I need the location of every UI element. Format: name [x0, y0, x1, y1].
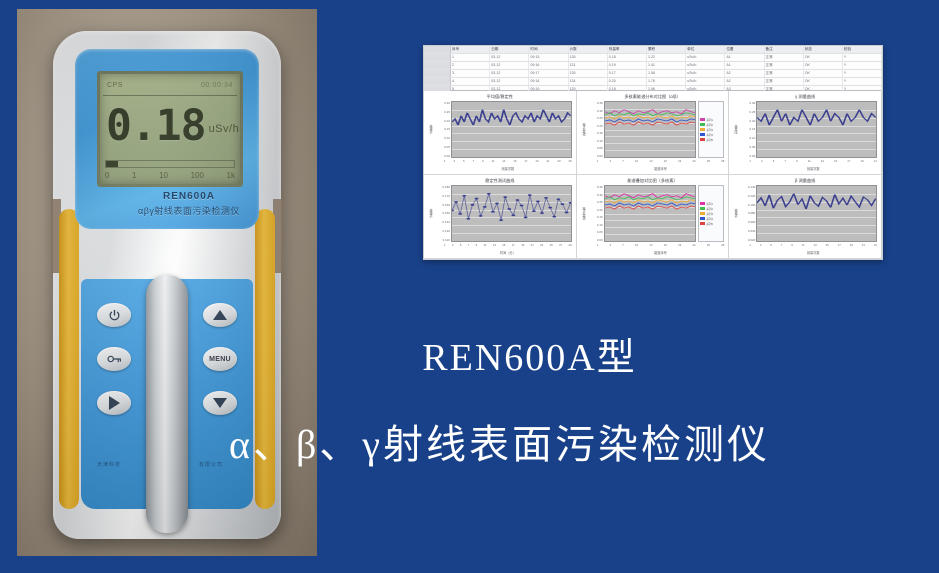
chart-cell: β 测量曲线计数率0.1400.1200.1000.0800.0600.0400…: [729, 175, 882, 259]
lcd-scale-tick: 0: [105, 171, 109, 180]
chart-y-axis: 0.300.250.200.150.100.050.00: [739, 101, 756, 158]
spreadsheet-row: 203-1209:161310.191.41uSv/hA1正常OKY: [424, 62, 882, 70]
x-tick: 1: [597, 243, 599, 250]
chart-series-svg: [757, 102, 876, 157]
x-tick: 15: [502, 243, 505, 250]
y-tick: 0.25: [739, 110, 755, 114]
legend-label: 系列1: [706, 118, 713, 122]
chart-x-axis-label: 测量次数: [749, 166, 877, 171]
chart-title: β 测量曲线: [733, 178, 877, 184]
chart-plot-area: [451, 185, 572, 242]
chart-cell: 稳定性测试曲线计数率0.1800.1700.1600.1500.1400.130…: [424, 175, 577, 259]
x-tick: 9: [476, 243, 478, 250]
power-icon: [108, 309, 121, 322]
x-tick: 7: [622, 159, 624, 166]
legend-item: 系列5: [700, 222, 722, 226]
legend-label: 系列2: [706, 123, 713, 127]
chart-x-axis: 13579111315171921: [749, 158, 877, 166]
x-tick: 10: [635, 243, 638, 250]
lcd-scale-tick: 10: [159, 171, 168, 180]
x-tick: 11: [484, 243, 487, 250]
x-tick: 13: [649, 159, 652, 166]
charts-grid: 平均值/稳定性计数率0.300.250.200.150.100.050.0013…: [424, 91, 882, 259]
spreadsheet-cell: 正常: [765, 54, 804, 61]
lcd-value: 0.18: [106, 105, 206, 148]
spreadsheet-cell: 126: [569, 70, 608, 77]
legend-swatch: [700, 217, 705, 220]
x-tick: 19: [861, 159, 864, 166]
x-tick: 13: [821, 159, 824, 166]
device-model-label: REN600A: [97, 191, 281, 202]
series-line: [605, 122, 696, 125]
y-tick: 0.30: [587, 193, 603, 197]
chart-plot-wrap: 能量计数0.350.300.250.200.150.100.050.00系列1系…: [581, 185, 725, 242]
y-tick: 0.060: [739, 220, 755, 224]
chart-plot-area: [604, 185, 697, 242]
series-line: [605, 200, 696, 203]
spreadsheet-cell: Y: [843, 78, 882, 85]
chart-y-axis: 0.1400.1200.1000.0800.0600.0400.020: [739, 185, 756, 242]
lcd-reading: 0.18 uSv/h: [106, 98, 236, 154]
y-tick: 0.05: [739, 145, 755, 149]
spreadsheet-cell: 正常: [765, 70, 804, 77]
y-tick: 0.15: [434, 127, 450, 131]
row-header-cell: [424, 70, 451, 77]
x-tick: 7: [781, 243, 783, 250]
chart-title: 平均值/稳定性: [428, 94, 572, 100]
spreadsheet-cell: 09:17: [529, 70, 568, 77]
play-icon: [109, 396, 120, 410]
x-tick: 3: [452, 243, 454, 250]
spreadsheet-cell: uSv/h: [686, 54, 725, 61]
x-tick: 9: [482, 159, 484, 166]
x-tick: 13: [649, 243, 652, 250]
product-title-line1: REN600A型: [0, 326, 939, 381]
y-tick: 0.25: [587, 116, 603, 120]
device-chinese-label: αβγ射线表面污染检测仪: [97, 204, 281, 217]
y-tick: 0.20: [434, 119, 450, 123]
spreadsheet-cell: 03-12: [490, 78, 529, 85]
lcd-scale-tick: 100: [191, 171, 204, 180]
chart-x-axis-label: 测量次数: [444, 166, 572, 171]
x-tick: 19: [535, 159, 538, 166]
x-tick: 19: [678, 159, 681, 166]
y-tick: 0.140: [739, 185, 755, 189]
chart-cell: 多核素能谱分布对比图（α/β）能量计数0.350.300.250.200.150…: [577, 91, 730, 175]
spreadsheet-cell: OK: [804, 78, 843, 85]
y-tick: 0.100: [739, 203, 755, 207]
legend-item: 系列2: [700, 207, 722, 211]
spreadsheet-cell: OK: [804, 62, 843, 69]
y-tick: 0.15: [587, 215, 603, 219]
chart-series-svg: [605, 102, 696, 157]
y-tick: 0.140: [434, 220, 450, 224]
chart-series-svg: [605, 186, 696, 241]
legend-item: 系列3: [700, 212, 722, 216]
y-tick: 0.20: [587, 208, 603, 212]
chart-y-axis-label: 能量计数: [581, 185, 587, 242]
x-tick: 23: [540, 243, 543, 250]
y-tick: 0.05: [587, 146, 603, 150]
y-tick: 0.20: [739, 119, 755, 123]
chart-x-axis: 14710131619222528: [597, 158, 725, 166]
chart-cell: 能谱叠加对比图（多核素）能量计数0.350.300.250.200.150.10…: [577, 175, 730, 259]
y-tick: 0.120: [739, 194, 755, 198]
x-tick: 16: [664, 243, 667, 250]
spreadsheet-cell: A2: [725, 78, 764, 85]
x-tick: 9: [796, 159, 798, 166]
spreadsheet-cell: 0.17: [608, 70, 647, 77]
x-tick: 7: [468, 243, 470, 250]
y-tick: 0.35: [587, 101, 603, 105]
spreadsheet-cell: 校验: [843, 46, 882, 53]
lcd-scale-tick: 1: [132, 171, 136, 180]
x-tick: 3: [760, 243, 762, 250]
x-tick: 23: [557, 159, 560, 166]
spreadsheet-cell: 1.78: [647, 78, 686, 85]
lcd-status-indicator: 00:00:34: [201, 82, 233, 89]
spreadsheet-cell: 1.22: [647, 54, 686, 61]
x-tick: 5: [460, 243, 462, 250]
chart-y-axis: 0.300.250.200.150.100.050.00: [434, 101, 451, 158]
spreadsheet-cell: 3: [451, 70, 490, 77]
spreadsheet-cell: uSv/h: [686, 78, 725, 85]
spreadsheet-area: 序号日期时间计数剂量率累积单位位置备注状态校验103-1209:151280.1…: [424, 46, 882, 91]
spreadsheet-cell: 1: [451, 54, 490, 61]
spreadsheet-cell: OK: [804, 70, 843, 77]
spreadsheet-cell: 0.20: [608, 78, 647, 85]
series-line: [757, 194, 876, 209]
chart-plot-area: [756, 101, 877, 158]
legend-label: 系列5: [706, 222, 713, 226]
spreadsheet-cell: 03-12: [490, 54, 529, 61]
row-header-cell: [424, 54, 451, 61]
arrow-down-icon: [213, 398, 227, 408]
x-tick: 4: [609, 159, 611, 166]
chart-title: 多核素能谱分布对比图（α/β）: [581, 94, 725, 100]
spreadsheet-cell: Y: [843, 54, 882, 61]
x-tick: 1: [749, 159, 751, 166]
row-header-cell: [424, 46, 451, 53]
y-tick: 0.130: [434, 229, 450, 233]
arrow-up-icon: [213, 310, 227, 320]
y-tick: 0.15: [739, 127, 755, 131]
legend-item: 系列1: [700, 202, 722, 206]
chart-plot-wrap: 能量计数0.350.300.250.200.150.100.050.00系列1系…: [581, 101, 725, 158]
chart-plot-area: [451, 101, 572, 158]
legend-label: 系列4: [706, 133, 713, 137]
spreadsheet-cell: Y: [843, 70, 882, 77]
y-tick: 0.30: [434, 101, 450, 105]
chart-x-axis: 1357911131517192123: [749, 242, 877, 250]
chart-plot-wrap: 计数率0.1800.1700.1600.1500.1400.1300.120: [428, 185, 572, 242]
x-tick: 13: [493, 243, 496, 250]
x-tick: 21: [862, 243, 865, 250]
x-tick: 16: [664, 159, 667, 166]
legend-item: 系列4: [700, 133, 722, 137]
legend-label: 系列4: [706, 217, 713, 221]
lcd-screen: CPS 00:00:34 0.18 uSv/h 01101001k: [97, 71, 243, 187]
spreadsheet-cell: 单位: [686, 46, 725, 53]
x-tick: 5: [770, 243, 772, 250]
chart-y-axis-label: 计数率: [428, 185, 434, 242]
series-line: [605, 110, 696, 114]
chart-title: 稳定性测试曲线: [428, 178, 572, 184]
x-tick: 15: [826, 243, 829, 250]
x-tick: 29: [569, 243, 572, 250]
x-tick: 25: [569, 159, 572, 166]
x-tick: 21: [531, 243, 534, 250]
chart-series-svg: [452, 102, 571, 157]
chart-y-axis-label: 计数率: [733, 185, 739, 242]
x-tick: 17: [524, 159, 527, 166]
y-tick: 0.150: [434, 211, 450, 215]
x-tick: 22: [692, 159, 695, 166]
spreadsheet-cell: 09:18: [529, 78, 568, 85]
up-button[interactable]: [203, 303, 237, 327]
product-title-line2: α、β、γ射线表面污染检测仪: [0, 412, 939, 470]
x-tick: 21: [874, 159, 877, 166]
spreadsheet-header-row: 序号日期时间计数剂量率累积单位位置备注状态校验: [424, 46, 882, 54]
power-button[interactable]: [97, 303, 131, 327]
series-line: [605, 194, 696, 198]
spreadsheet-cell: 03-12: [490, 70, 529, 77]
chart-x-axis-label: 测量次数: [749, 250, 877, 255]
y-tick: 0.15: [587, 131, 603, 135]
x-tick: 7: [622, 243, 624, 250]
spreadsheet-cell: 09:16: [529, 62, 568, 69]
legend-label: 系列3: [706, 128, 713, 132]
spreadsheet-cell: 备注: [765, 46, 804, 53]
chart-y-axis-label: 能量计数: [581, 101, 587, 158]
x-tick: 3: [761, 159, 763, 166]
chart-plot-area: [604, 101, 697, 158]
y-tick: 0.05: [587, 230, 603, 234]
spreadsheet-cell: 131: [569, 62, 608, 69]
spreadsheet-cell: 累积: [647, 46, 686, 53]
chart-x-axis: 135791113151719212325: [444, 158, 572, 166]
lcd-scale: 01101001k: [105, 168, 235, 182]
spreadsheet-cell: 128: [569, 54, 608, 61]
y-tick: 0.10: [739, 136, 755, 140]
x-tick: 19: [850, 243, 853, 250]
y-tick: 0.10: [587, 139, 603, 143]
chart-legend: 系列1系列2系列3系列4系列5: [698, 185, 724, 242]
series-line: [605, 206, 696, 209]
x-tick: 27: [559, 243, 562, 250]
x-tick: 10: [635, 159, 638, 166]
x-tick: 17: [847, 159, 850, 166]
lcd-scale-tick: 1k: [227, 171, 235, 180]
series-line: [605, 116, 696, 119]
spreadsheet-cell: 2: [451, 62, 490, 69]
y-tick: 0.180: [434, 185, 450, 189]
chart-title: γ 测量曲线: [733, 94, 877, 100]
legend-item: 系列5: [700, 138, 722, 142]
spreadsheet-cell: uSv/h: [686, 62, 725, 69]
spreadsheet-cell: 状态: [804, 46, 843, 53]
lcd-bargraph: [105, 160, 235, 168]
x-tick: 17: [512, 243, 515, 250]
chart-y-axis-label: 剂量率: [733, 101, 739, 158]
lcd-top-bar: CPS 00:00:34: [103, 76, 237, 96]
legend-swatch: [700, 133, 705, 136]
x-tick: 7: [472, 159, 474, 166]
chart-x-axis: 1357911131517192123252729: [444, 242, 572, 250]
x-tick: 19: [678, 243, 681, 250]
x-tick: 1: [749, 243, 751, 250]
x-tick: 9: [791, 243, 793, 250]
x-tick: 17: [838, 243, 841, 250]
y-tick: 0.25: [587, 200, 603, 204]
device-face-upper: CPS 00:00:34 0.18 uSv/h 01101001k REN600…: [75, 49, 259, 229]
lcd-mode-indicator: CPS: [107, 82, 123, 89]
device-hand-strap: [146, 275, 188, 533]
x-tick: 7: [784, 159, 786, 166]
series-line: [452, 110, 571, 125]
series-line: [605, 203, 696, 206]
spreadsheet-cell: A2: [725, 70, 764, 77]
y-tick: 0.30: [739, 101, 755, 105]
chart-series-svg: [757, 186, 876, 241]
x-tick: 5: [773, 159, 775, 166]
y-tick: 0.25: [434, 110, 450, 114]
spreadsheet-cell: 计数: [569, 46, 608, 53]
legend-item: 系列3: [700, 128, 722, 132]
legend-swatch: [700, 222, 705, 225]
legend-swatch: [700, 128, 705, 131]
chart-series-svg: [452, 186, 571, 241]
y-tick: 0.30: [587, 109, 603, 113]
legend-label: 系列5: [706, 138, 713, 142]
chart-x-axis-label: 能道序号: [597, 166, 725, 171]
spreadsheet-cell: 0.18: [608, 54, 647, 61]
chart-y-axis: 0.350.300.250.200.150.100.050.00: [587, 101, 604, 158]
spreadsheet-row: 103-1209:151280.181.22uSv/hA1正常OKY: [424, 54, 882, 62]
x-tick: 25: [550, 243, 553, 250]
legend-label: 系列1: [706, 202, 713, 206]
legend-item: 系列1: [700, 118, 722, 122]
x-tick: 13: [814, 243, 817, 250]
spreadsheet-cell: 位置: [725, 46, 764, 53]
spreadsheet-cell: 序号: [451, 46, 490, 53]
legend-swatch: [700, 202, 705, 205]
product-photo: CPS 00:00:34 0.18 uSv/h 01101001k REN600…: [17, 9, 317, 556]
spreadsheet-cell: 时间: [529, 46, 568, 53]
software-screenshot-panel: 序号日期时间计数剂量率累积单位位置备注状态校验103-1209:151280.1…: [423, 45, 883, 260]
x-tick: 1: [444, 243, 446, 250]
chart-plot-wrap: 计数率0.300.250.200.150.100.050.00: [428, 101, 572, 158]
chart-cell: γ 测量曲线剂量率0.300.250.200.150.100.050.00135…: [729, 91, 882, 175]
chart-plot-wrap: 剂量率0.300.250.200.150.100.050.00: [733, 101, 877, 158]
chart-legend: 系列1系列2系列3系列4系列5: [698, 101, 724, 158]
legend-label: 系列2: [706, 207, 713, 211]
x-tick: 11: [491, 159, 494, 166]
spreadsheet-cell: 剂量率: [608, 46, 647, 53]
chart-x-axis: 14710131619222528: [597, 242, 725, 250]
x-tick: 15: [513, 159, 516, 166]
legend-swatch: [700, 138, 705, 141]
chart-plot-area: [756, 185, 877, 242]
spreadsheet-cell: OK: [804, 54, 843, 61]
x-tick: 21: [546, 159, 549, 166]
x-tick: 3: [453, 159, 455, 166]
legend-swatch: [700, 212, 705, 215]
x-tick: 1: [597, 159, 599, 166]
spreadsheet-cell: 正常: [765, 78, 804, 85]
row-header-cell: [424, 62, 451, 69]
x-tick: 19: [521, 243, 524, 250]
x-tick: 28: [721, 159, 724, 166]
spreadsheet-cell: 4: [451, 78, 490, 85]
y-tick: 0.160: [434, 203, 450, 207]
chart-y-axis: 0.1800.1700.1600.1500.1400.1300.120: [434, 185, 451, 242]
legend-item: 系列4: [700, 217, 722, 221]
x-tick: 25: [707, 159, 710, 166]
chart-y-axis: 0.350.300.250.200.150.100.050.00: [587, 185, 604, 242]
chart-cell: 平均值/稳定性计数率0.300.250.200.150.100.050.0013…: [424, 91, 577, 175]
legend-swatch: [700, 123, 705, 126]
chart-title: 能谱叠加对比图（多核素）: [581, 178, 725, 184]
row-header-cell: [424, 78, 451, 85]
x-tick: 4: [609, 243, 611, 250]
spreadsheet-cell: uSv/h: [686, 70, 725, 77]
x-tick: 11: [808, 159, 811, 166]
x-tick: 11: [802, 243, 805, 250]
x-tick: 28: [721, 243, 724, 250]
x-tick: 1: [444, 159, 446, 166]
spreadsheet-cell: 03-12: [490, 62, 529, 69]
series-line: [605, 119, 696, 122]
spreadsheet-cell: A1: [725, 62, 764, 69]
spreadsheet-cell: 正常: [765, 62, 804, 69]
y-tick: 0.170: [434, 194, 450, 198]
x-tick: 5: [463, 159, 465, 166]
series-line: [757, 110, 876, 125]
x-tick: 22: [692, 243, 695, 250]
x-tick: 25: [707, 243, 710, 250]
y-tick: 0.35: [587, 185, 603, 189]
spreadsheet-row: 303-1209:171260.171.58uSv/hA2正常OKY: [424, 70, 882, 78]
spreadsheet-cell: 0.19: [608, 62, 647, 69]
chart-x-axis-label: 时间（分）: [444, 250, 572, 255]
spreadsheet-cell: 1.58: [647, 70, 686, 77]
y-tick: 0.20: [587, 124, 603, 128]
legend-item: 系列2: [700, 123, 722, 127]
spreadsheet-cell: 09:15: [529, 54, 568, 61]
spreadsheet-cell: 1.41: [647, 62, 686, 69]
legend-swatch: [700, 118, 705, 121]
slide-root: CPS 00:00:34 0.18 uSv/h 01101001k REN600…: [0, 0, 939, 573]
y-tick: 0.080: [739, 211, 755, 215]
spreadsheet-cell: 日期: [490, 46, 529, 53]
x-tick: 15: [834, 159, 837, 166]
y-tick: 0.10: [434, 136, 450, 140]
chart-plot-wrap: 计数率0.1400.1200.1000.0800.0600.0400.020: [733, 185, 877, 242]
y-tick: 0.10: [587, 223, 603, 227]
spreadsheet-cell: 134: [569, 78, 608, 85]
y-tick: 0.040: [739, 229, 755, 233]
x-tick: 13: [502, 159, 505, 166]
y-tick: 0.05: [434, 145, 450, 149]
chart-x-axis-label: 能道序号: [597, 250, 725, 255]
legend-label: 系列3: [706, 212, 713, 216]
spreadsheet-cell: A1: [725, 54, 764, 61]
x-tick: 23: [874, 243, 877, 250]
chart-y-axis-label: 计数率: [428, 101, 434, 158]
spreadsheet-cell: Y: [843, 62, 882, 69]
legend-swatch: [700, 207, 705, 210]
